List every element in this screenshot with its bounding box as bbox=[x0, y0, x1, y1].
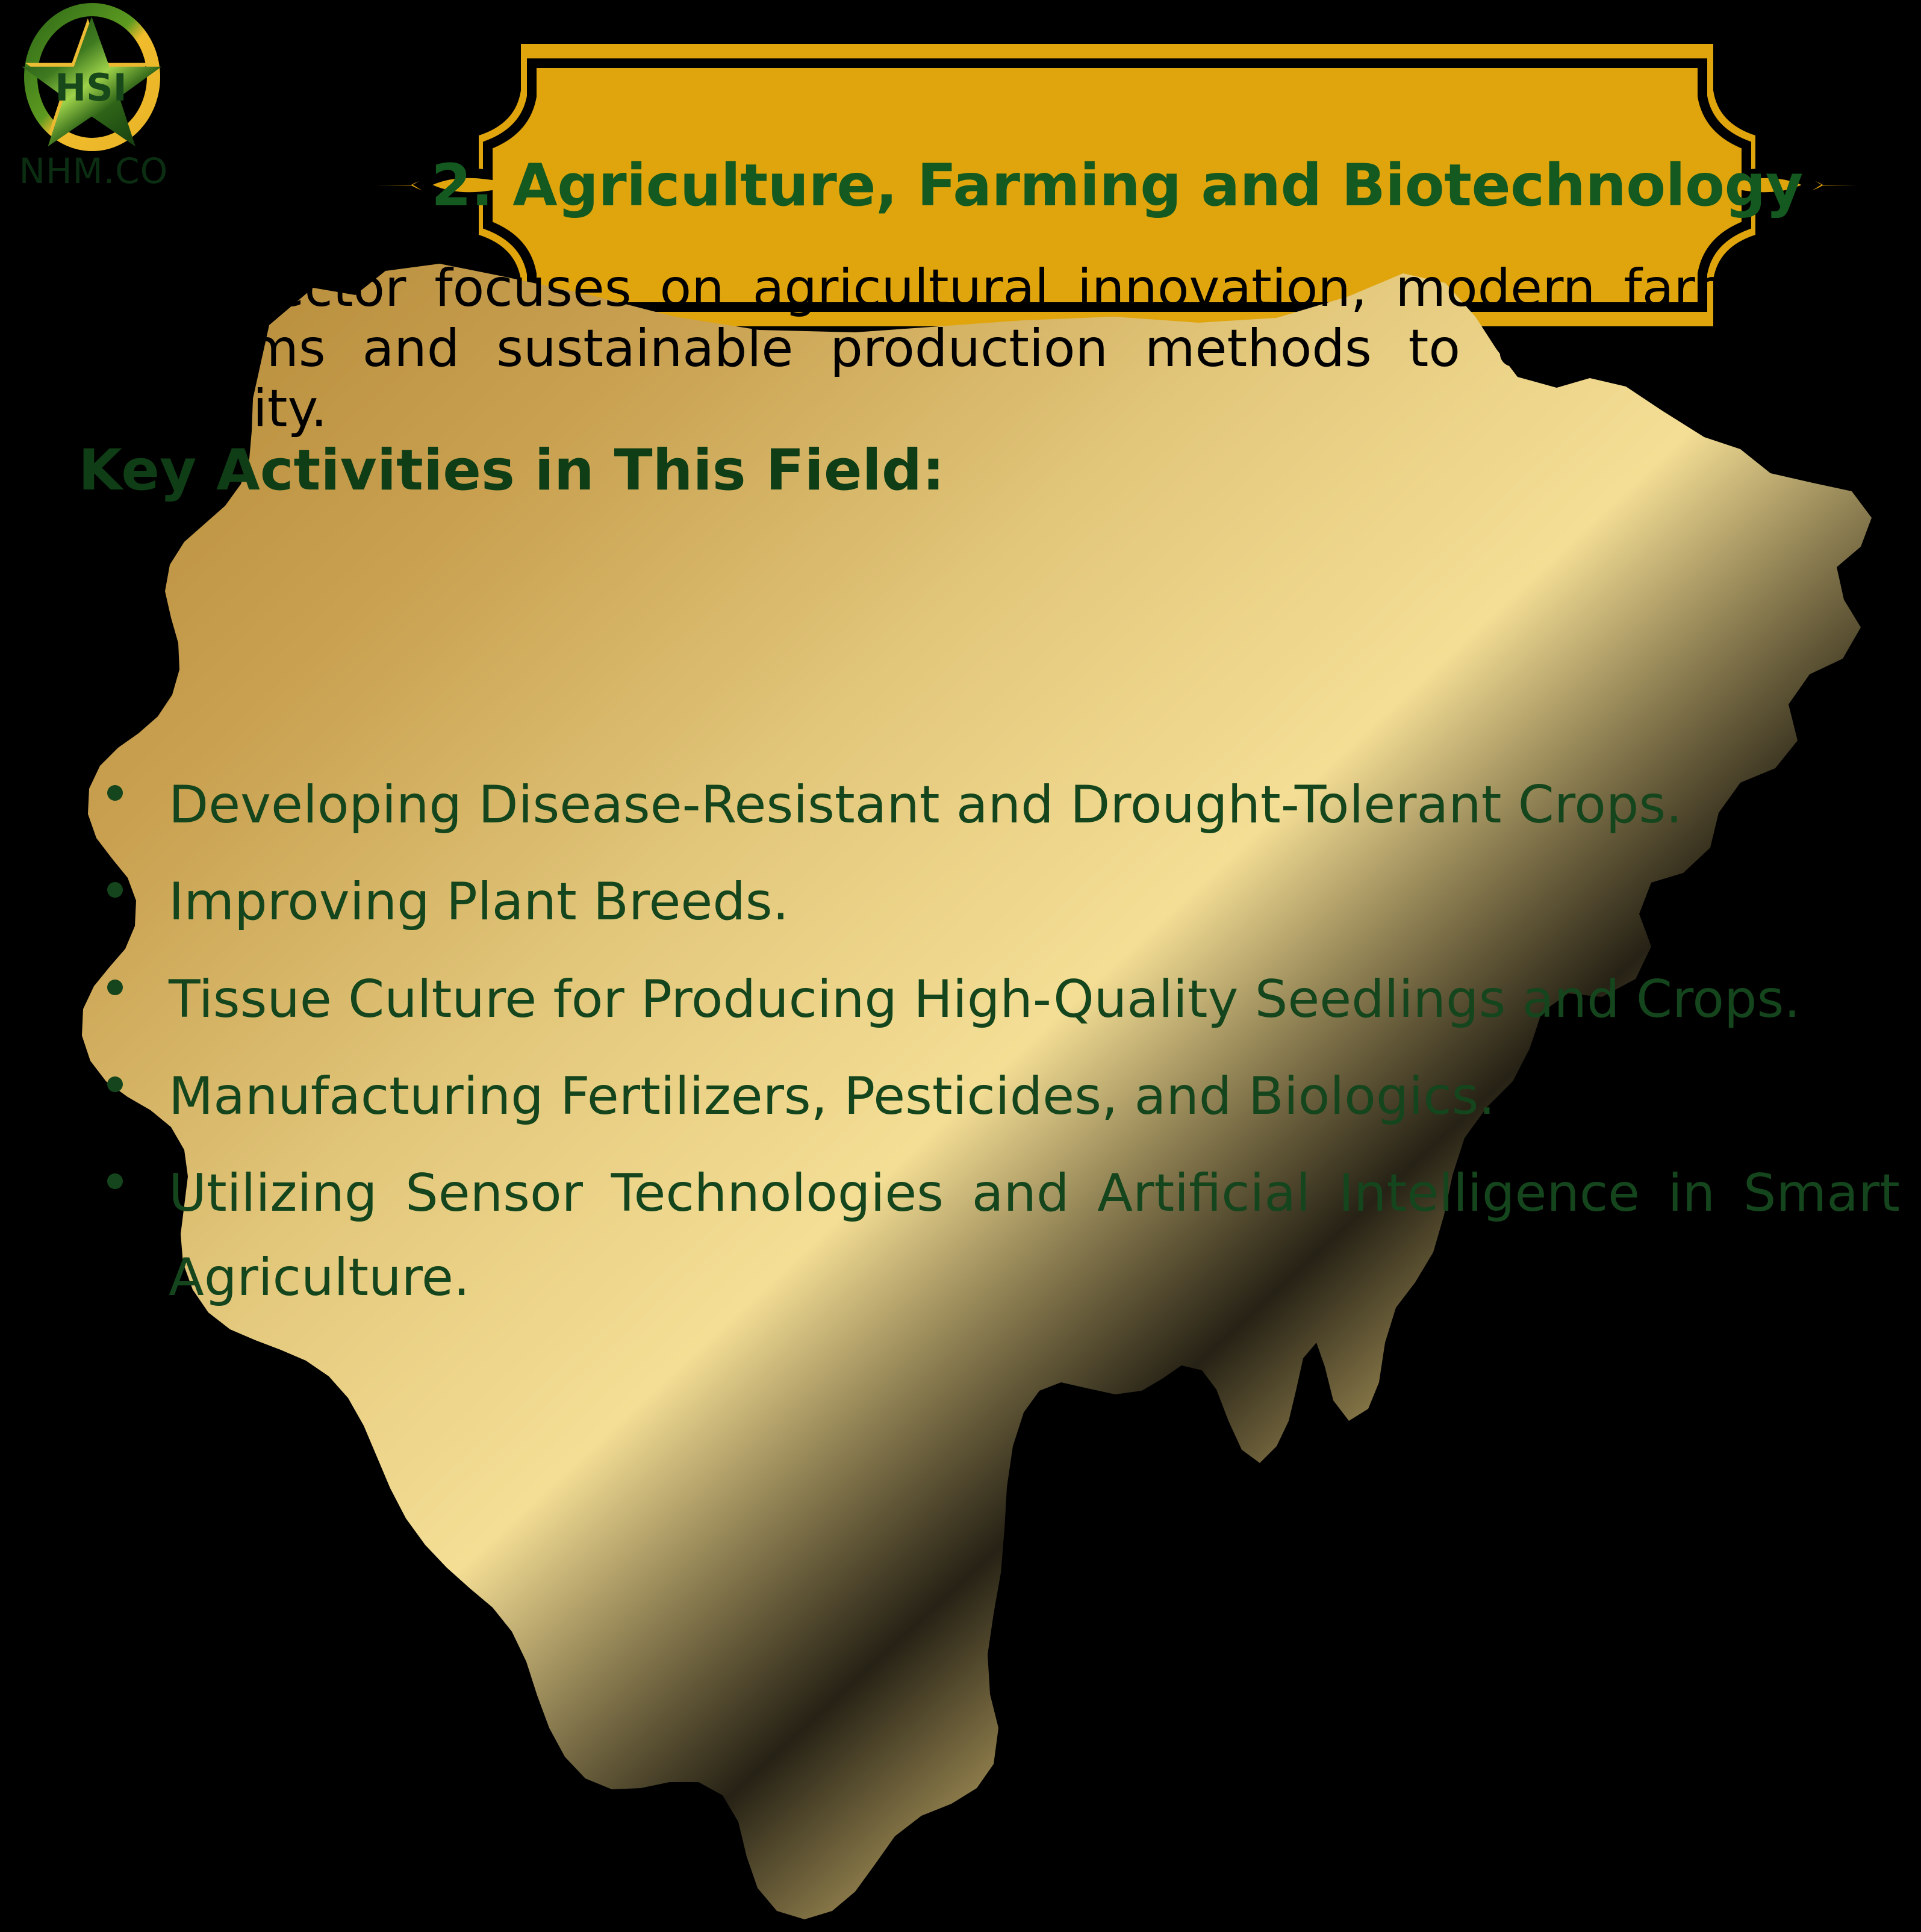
nigeria-map-panel: This sector focuses on agricultural inno… bbox=[0, 259, 1921, 1932]
list-item: Manufacturing Fertilizers, Pesticides, a… bbox=[96, 1055, 1900, 1138]
list-item: Utilizing Sensor Technologies and Artifi… bbox=[96, 1152, 1900, 1320]
list-item: Tissue Culture for Producing High-Qualit… bbox=[96, 958, 1900, 1042]
intro-paragraph: This sector focuses on agricultural inno… bbox=[111, 259, 1825, 439]
key-activities-list: Developing Disease-Resistant and Drought… bbox=[96, 763, 1900, 1333]
hsi-star-logo-icon: HSI bbox=[17, 1, 167, 155]
list-item: Improving Plant Breeds. bbox=[96, 860, 1900, 944]
logo-inner-text: HSI bbox=[55, 66, 127, 110]
brand-logo-block: HSI NHM.CO bbox=[17, 1, 173, 254]
list-item: Developing Disease-Resistant and Drought… bbox=[96, 763, 1900, 847]
brand-wordmark: NHM.CO bbox=[17, 154, 170, 188]
section-heading: Key Activities in This Field: bbox=[78, 440, 1584, 502]
